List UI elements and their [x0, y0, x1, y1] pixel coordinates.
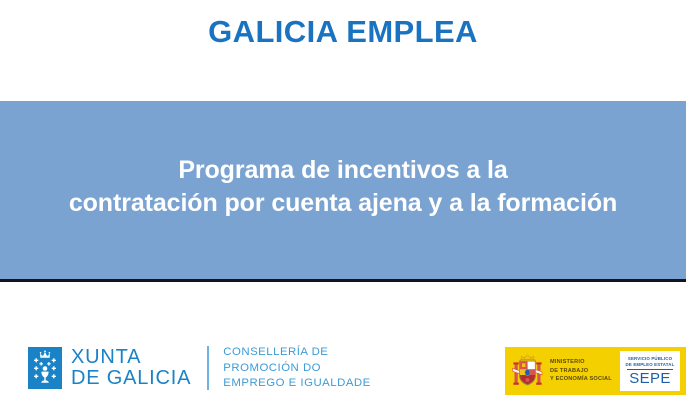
ministerio-line-1: MINISTERIO [550, 358, 612, 366]
ministerio-sepe-logo: MINISTERIO DE TRABAJO Y ECONOMÍA SOCIAL … [505, 347, 686, 395]
spain-coat-of-arms-icon [511, 351, 544, 391]
galicia-coat-of-arms-icon [28, 347, 62, 389]
ministerio-line-3: Y ECONOMÍA SOCIAL [550, 375, 612, 383]
logo-divider [207, 346, 209, 390]
conselleria-line-3: EMPREGO E IGUALDADE [223, 376, 370, 392]
ministerio-text: MINISTERIO DE TRABAJO Y ECONOMÍA SOCIAL [550, 358, 612, 383]
conselleria-text: CONSELLERÍA DE PROMOCIÓN DO EMPREGO E IG… [223, 345, 370, 392]
sepe-subtitle-line-2: DE EMPLEO ESTATAL [626, 362, 675, 368]
page-header: GALICIA EMPLEA [0, 0, 686, 101]
conselleria-line-1: CONSELLERÍA DE [223, 345, 370, 361]
banner-line-1: Programa de incentivos a la [178, 154, 507, 187]
sepe-logo: SERVICIO PÚBLICO DE EMPLEO ESTATAL SEPE [620, 351, 680, 391]
xunta-wordmark-line-2: DE GALICIA [71, 368, 191, 389]
ministerio-line-2: DE TRABAJO [550, 367, 612, 375]
conselleria-line-2: PROMOCIÓN DO [223, 361, 370, 377]
page-title: GALICIA EMPLEA [208, 16, 478, 47]
xunta-wordmark: XUNTA DE GALICIA [71, 347, 191, 389]
program-banner: Programa de incentivos a la contratación… [0, 101, 686, 282]
banner-line-2: contratación por cuenta ajena y a la for… [69, 187, 617, 220]
xunta-wordmark-line-1: XUNTA [71, 347, 191, 368]
footer-logos: XUNTA DE GALICIA CONSELLERÍA DE PROMOCIÓ… [0, 285, 686, 410]
sepe-acronym: SEPE [629, 371, 671, 386]
xunta-de-galicia-logo: XUNTA DE GALICIA CONSELLERÍA DE PROMOCIÓ… [28, 345, 371, 392]
